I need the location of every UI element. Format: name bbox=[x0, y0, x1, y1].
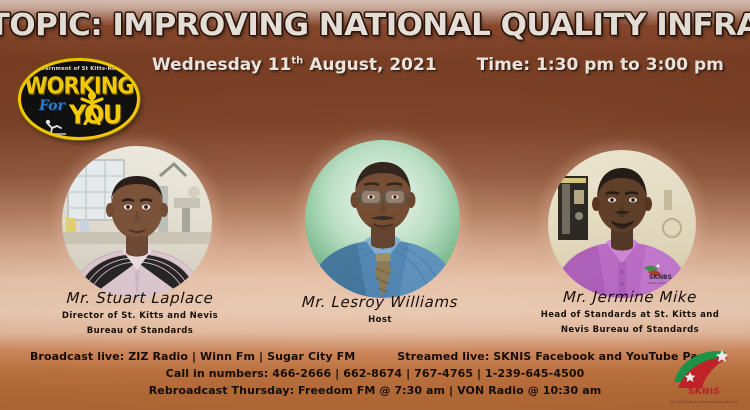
sknis-swoosh-icon bbox=[666, 348, 742, 392]
portrait-stuart-laplace bbox=[62, 146, 212, 298]
panelist-name: Mr. Lesroy Williams bbox=[266, 293, 495, 311]
svg-text:SKNBS: SKNBS bbox=[649, 274, 672, 281]
portrait-jermine-mike: SKNBS Bureau of Standards bbox=[548, 150, 696, 298]
event-date-suffix: August, 2021 bbox=[303, 55, 436, 75]
poster-canvas: TOPIC: IMPROVING NATIONAL QUALITY INFRAS… bbox=[0, 0, 750, 410]
event-datetime-row: Wednesday 11th August, 2021 Time: 1:30 p… bbox=[152, 55, 750, 75]
standing-figure-icon bbox=[79, 91, 105, 130]
event-date-ordinal: th bbox=[291, 55, 303, 66]
sknis-logo: SKNIS St. Kitts Nevis Information Servic… bbox=[666, 348, 742, 404]
logo-government-line: Government of St Kitts-Nevis bbox=[21, 66, 137, 72]
caption-stuart-laplace: Mr. Stuart Laplace Director of St. Kitts… bbox=[24, 289, 256, 337]
portrait-lesroy-williams bbox=[305, 140, 460, 298]
panelist-role-line1: Director of St. Kitts and Nevis bbox=[24, 310, 256, 322]
panelist-role-line2: Bureau of Standards bbox=[24, 325, 256, 337]
svg-text:Bureau of Standards: Bureau of Standards bbox=[648, 281, 675, 285]
event-date: Wednesday 11th August, 2021 bbox=[152, 55, 437, 75]
caption-lesroy-williams: Mr. Lesroy Williams Host bbox=[266, 293, 494, 326]
panelist-role-line1: Head of Standards at St. Kitts and bbox=[512, 309, 748, 321]
panelist-name: Mr. Jermine Mike bbox=[512, 288, 749, 306]
event-time: Time: 1:30 pm to 3:00 pm bbox=[477, 55, 724, 75]
sknis-logo-name: SKNIS bbox=[666, 387, 742, 397]
footer-call-in-numbers: Call in numbers: 466-2666 | 662-8674 | 7… bbox=[0, 365, 750, 382]
sknis-logo-subtitle: St. Kitts Nevis Information Service bbox=[666, 400, 742, 404]
runner-icon bbox=[43, 119, 67, 140]
footer-broadcast-row: Broadcast live: ZIZ Radio | Winn Fm | Su… bbox=[0, 348, 750, 365]
panelist-name: Mr. Stuart Laplace bbox=[24, 289, 257, 307]
footer-broadcast-live: Broadcast live: ZIZ Radio | Winn Fm | Su… bbox=[30, 348, 355, 365]
event-date-prefix: Wednesday 11 bbox=[152, 55, 291, 75]
working-for-you-logo: Government of St Kitts-Nevis WORKING For… bbox=[18, 58, 140, 140]
footer-rebroadcast: Rebroadcast Thursday: Freedom FM @ 7:30 … bbox=[0, 382, 750, 399]
caption-jermine-mike: Mr. Jermine Mike Head of Standards at St… bbox=[512, 288, 748, 336]
panelist-role-line2: Nevis Bureau of Standards bbox=[512, 324, 748, 336]
page-title: TOPIC: IMPROVING NATIONAL QUALITY INFRAS… bbox=[0, 10, 750, 42]
panelist-role-line1: Host bbox=[266, 314, 494, 326]
logo-for-text: For bbox=[39, 98, 65, 114]
footer-info: Broadcast live: ZIZ Radio | Winn Fm | Su… bbox=[0, 348, 750, 399]
